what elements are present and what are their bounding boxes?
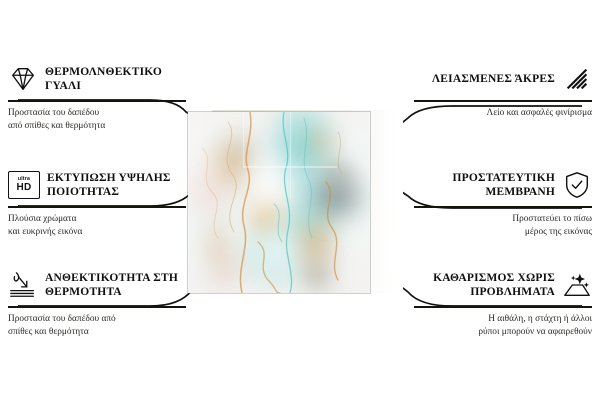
feature-header: ΘΕΡΜΟΛΝΘΕΚΤΙΚΟ ΓΥΑΛΙ bbox=[8, 62, 186, 96]
feature-title: ΑΝΘΕΚΤΙΚΟΤΗΤΑ ΣΤΗ ΘΕΡΜΟΤΗΤΑ bbox=[45, 271, 186, 299]
feature-description: Προστατεύει το πίσω μέρος της εικόνας bbox=[414, 213, 592, 240]
glass-reflection-lines bbox=[188, 112, 370, 293]
polished-edges-icon bbox=[562, 64, 592, 94]
feature-title: ΕΚΤΥΠΩΣΗ ΥΨΗΛΗΣ ΠΟΙΟΤΗΤΑΣ bbox=[47, 171, 186, 199]
feature-divider bbox=[8, 206, 186, 208]
feature-divider bbox=[414, 100, 592, 102]
feature-block-heat-resistance: ΑΝΘΕΚΤΙΚΟΤΗΤΑ ΣΤΗ ΘΕΡΜΟΤΗΤΑ Προστασία το… bbox=[8, 268, 186, 340]
feature-block-thermal-glass: ΘΕΡΜΟΛΝΘΕΚΤΙΚΟ ΓΥΑΛΙ Προστασία του δαπέδ… bbox=[8, 62, 186, 134]
feature-block-high-quality-print: ultra HD ΕΚΤΥΠΩΣΗ ΥΨΗΛΗΣ ΠΟΙΟΤΗΤΑΣ Πλούσ… bbox=[8, 168, 186, 240]
feature-description: Η αιθάλη, η στάχτη ή άλλοι ρύποι μπορούν… bbox=[414, 313, 592, 340]
feature-block-protective-membrane: ΠΡΟΣΤΑΤΕΥΤΙΚΗ ΜΕΜΒΡΑΝΗ Προστατεύει το πί… bbox=[414, 168, 592, 240]
feature-title: ΠΡΟΣΤΑΤΕΥΤΙΚΗ ΜΕΜΒΡΑΝΗ bbox=[414, 171, 555, 199]
feature-block-polished-edges: ΛΕΙΑΣΜΕΝΕΣ ΆΚΡΕΣ Λείο και ασφαλές φινίρι… bbox=[414, 62, 592, 120]
feature-title: ΚΑΘΑΡΙΣΜΟΣ ΧΩΡΙΣ ΠΡΟΒΛΗΜΑΤΑ bbox=[414, 271, 555, 299]
hd-badge-bottom: HD bbox=[16, 183, 31, 193]
feature-description: Προστασία του δαπέδου από σπίθες και θερ… bbox=[8, 313, 186, 340]
feature-divider bbox=[414, 306, 592, 308]
feature-description: Πλούσια χρώματα και ευκρινής εικόνα bbox=[8, 213, 186, 240]
feature-header: ultra HD ΕΚΤΥΠΩΣΗ ΥΨΗΛΗΣ ΠΟΙΟΤΗΤΑΣ bbox=[8, 168, 186, 202]
feature-title: ΛΕΙΑΣΜΕΝΕΣ ΆΚΡΕΣ bbox=[432, 72, 555, 86]
diamond-icon bbox=[8, 64, 38, 94]
flame-heat-resistance-icon bbox=[8, 270, 38, 300]
product-image bbox=[188, 112, 403, 294]
feature-block-easy-cleaning: ΚΑΘΑΡΙΣΜΟΣ ΧΩΡΙΣ ΠΡΟΒΛΗΜΑΤΑ Η αιθάλη, η … bbox=[414, 268, 592, 340]
ultra-hd-badge-icon: ultra HD bbox=[8, 171, 40, 199]
glass-panel bbox=[188, 112, 370, 293]
infographic-canvas: ΘΕΡΜΟΛΝΘΕΚΤΙΚΟ ΓΥΑΛΙ Προστασία του δαπέδ… bbox=[0, 0, 600, 400]
feature-header: ΚΑΘΑΡΙΣΜΟΣ ΧΩΡΙΣ ΠΡΟΒΛΗΜΑΤΑ bbox=[414, 268, 592, 302]
shield-check-icon bbox=[562, 170, 592, 200]
feature-header: ΛΕΙΑΣΜΕΝΕΣ ΆΚΡΕΣ bbox=[414, 62, 592, 96]
feature-header: ΑΝΘΕΚΤΙΚΟΤΗΤΑ ΣΤΗ ΘΕΡΜΟΤΗΤΑ bbox=[8, 268, 186, 302]
easy-clean-sparkle-icon bbox=[562, 270, 592, 300]
feature-divider bbox=[8, 100, 186, 102]
feature-header: ΠΡΟΣΤΑΤΕΥΤΙΚΗ ΜΕΜΒΡΑΝΗ bbox=[414, 168, 592, 202]
feature-divider bbox=[414, 206, 592, 208]
feature-description: Λείο και ασφαλές φινίρισμα bbox=[414, 107, 592, 120]
feature-title: ΘΕΡΜΟΛΝΘΕΚΤΙΚΟ ΓΥΑΛΙ bbox=[45, 65, 186, 93]
feature-divider bbox=[8, 306, 186, 308]
feature-description: Προστασία του δαπέδου από σπίθες και θερ… bbox=[8, 107, 186, 134]
